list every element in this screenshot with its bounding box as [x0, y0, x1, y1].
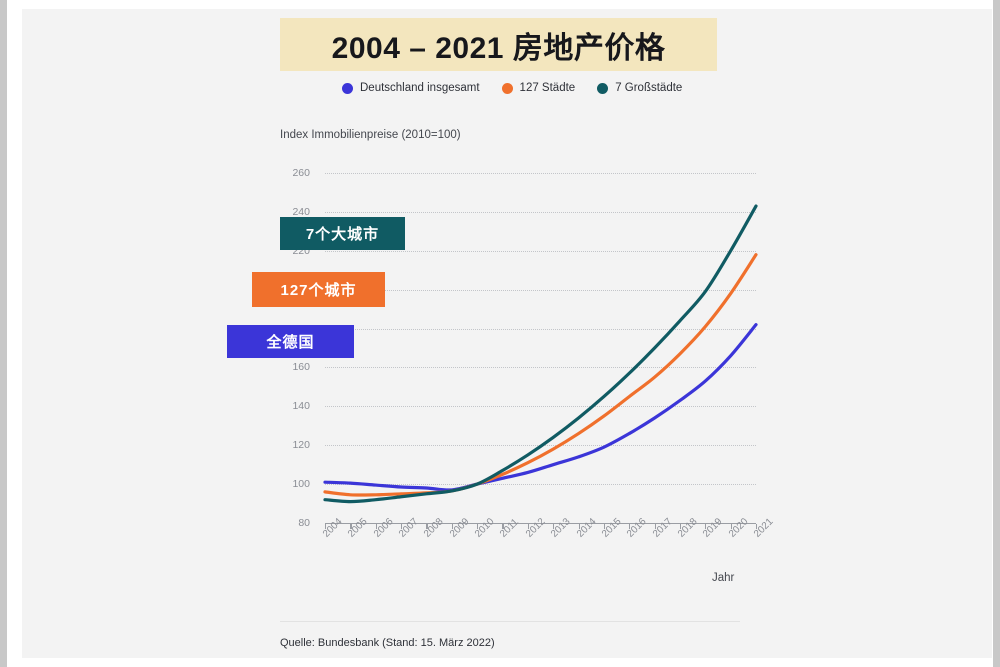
source-divider: [280, 621, 740, 622]
chart-legend: Deutschland insgesamt 127 Städte 7 Großs…: [342, 82, 682, 94]
legend-label-7-grossstaedte: 7 Großstädte: [615, 82, 682, 94]
x-axis-title: Jahr: [712, 572, 734, 584]
legend-item-deutschland[interactable]: Deutschland insgesamt: [342, 82, 480, 94]
y-axis-title: Index Immobilienpreise (2010=100): [280, 129, 461, 141]
source-note: Quelle: Bundesbank (Stand: 15. März 2022…: [280, 637, 495, 649]
callout-deutschland[interactable]: 全德国: [227, 325, 354, 358]
legend-dot-blue-icon: [342, 83, 353, 94]
slide-canvas: 2004 – 2021 房地产价格 Deutschland insgesamt …: [22, 9, 992, 658]
legend-dot-teal-icon: [597, 83, 608, 94]
callout-127-label: 127个城市: [280, 279, 356, 300]
page-title: 2004 – 2021 房地产价格: [332, 23, 666, 67]
legend-item-7-grossstaedte[interactable]: 7 Großstädte: [597, 82, 682, 94]
legend-dot-orange-icon: [502, 83, 513, 94]
legend-label-127-staedte: 127 Städte: [520, 82, 576, 94]
screenshot-frame: 2004 – 2021 房地产价格 Deutschland insgesamt …: [0, 0, 1000, 667]
legend-item-127-staedte[interactable]: 127 Städte: [502, 82, 576, 94]
legend-label-deutschland: Deutschland insgesamt: [360, 82, 480, 94]
callout-7-grossstaedte[interactable]: 7个大城市: [280, 217, 405, 250]
title-banner: 2004 – 2021 房地产价格: [280, 18, 717, 71]
callout-7-label: 7个大城市: [306, 223, 379, 244]
callout-de-label: 全德国: [266, 331, 314, 352]
callout-127-staedte[interactable]: 127个城市: [252, 272, 385, 307]
